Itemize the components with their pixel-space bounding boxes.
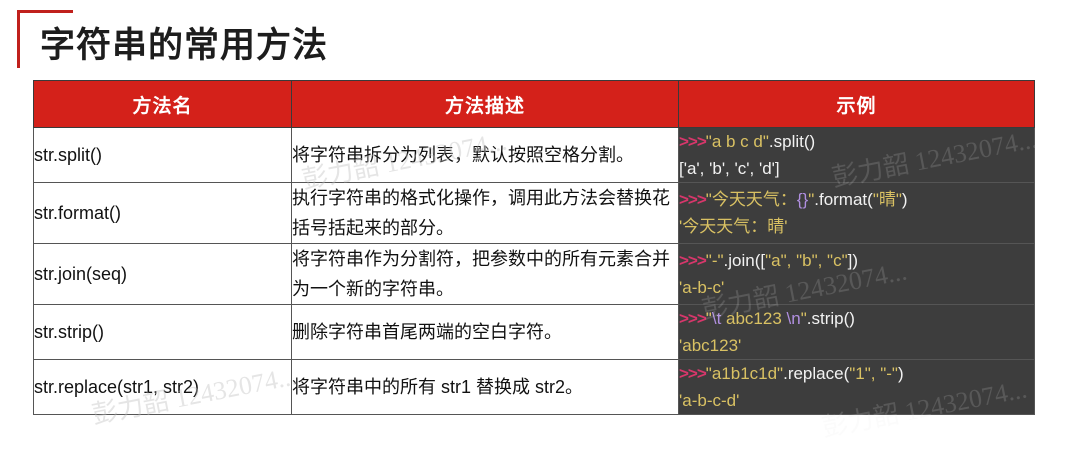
method-name-cell: str.format() — [34, 183, 292, 244]
string-body-token: abc123 — [721, 309, 786, 328]
table-body: str.split() 将字符串拆分为列表，默认按照空格分割。 >>>"a b … — [34, 128, 1035, 415]
code-input-line: >>>"-".join(["a", "b", "c"]) — [679, 247, 1034, 274]
call-token: .split() — [769, 132, 815, 151]
placeholder-token: {} — [797, 190, 808, 209]
method-name-cell: str.join(seq) — [34, 244, 292, 305]
method-example-cell: >>>"a b c d".split() ['a', 'b', 'c', 'd'… — [679, 128, 1035, 183]
prompt-token: >>> — [679, 132, 706, 151]
method-desc-cell: 将字符串拆分为列表，默认按照空格分割。 — [292, 128, 679, 183]
method-name-cell: str.replace(str1, str2) — [34, 360, 292, 415]
code-input-line: >>>"a1b1c1d".replace("1", "-") — [679, 360, 1034, 387]
code-output-line: ['a', 'b', 'c', 'd'] — [679, 155, 1034, 182]
code-input-line: >>>"今天天气：{}".format("晴") — [679, 186, 1034, 213]
method-desc-cell: 执行字符串的格式化操作，调用此方法会替换花括号括起来的部分。 — [292, 183, 679, 244]
prompt-token: >>> — [679, 251, 706, 270]
code-output-line: 'abc123' — [679, 332, 1034, 359]
table-header: 方法名 方法描述 示例 — [34, 81, 1035, 128]
table-row: str.split() 将字符串拆分为列表，默认按照空格分割。 >>>"a b … — [34, 128, 1035, 183]
table-row: str.join(seq) 将字符串作为分割符，把参数中的所有元素合并为一个新的… — [34, 244, 1035, 305]
method-desc-cell: 将字符串中的所有 str1 替换成 str2。 — [292, 360, 679, 415]
method-example-cell: >>>"-".join(["a", "b", "c"]) 'a-b-c' — [679, 244, 1035, 305]
table-header-row: 方法名 方法描述 示例 — [34, 81, 1035, 128]
table-row: str.strip() 删除字符串首尾两端的空白字符。 >>>"\t abc12… — [34, 305, 1035, 360]
escape-tab-token: \t — [712, 309, 721, 328]
method-example-cell: >>>"a1b1c1d".replace("1", "-") 'a-b-c-d' — [679, 360, 1035, 415]
output-token: 'a-b-c' — [679, 278, 724, 297]
code-output-line: 'a-b-c' — [679, 274, 1034, 301]
code-output-line: 'a-b-c-d' — [679, 387, 1034, 414]
string-token: "a b c d" — [706, 132, 769, 151]
output-token: 'abc123' — [679, 336, 741, 355]
method-name-cell: str.split() — [34, 128, 292, 183]
code-input-line: >>>"\t abc123 \n".strip() — [679, 305, 1034, 332]
method-example-cell: >>>"今天天气：{}".format("晴") '今天天气：晴' — [679, 183, 1035, 244]
table-row: str.format() 执行字符串的格式化操作，调用此方法会替换花括号括起来的… — [34, 183, 1035, 244]
string-token: "a1b1c1d" — [706, 364, 783, 383]
table-row: str.replace(str1, str2) 将字符串中的所有 str1 替换… — [34, 360, 1035, 415]
title-block: 字符串的常用方法 — [17, 10, 357, 72]
column-header-description: 方法描述 — [292, 81, 679, 128]
argument-token: "晴" — [873, 190, 902, 209]
page-title: 字符串的常用方法 — [40, 24, 328, 68]
string-methods-table: 方法名 方法描述 示例 str.split() 将字符串拆分为列表，默认按照空格… — [33, 80, 1035, 415]
escape-newline-token: \n — [787, 309, 801, 328]
output-token: '今天天气：晴' — [679, 217, 788, 236]
column-header-method-name: 方法名 — [34, 81, 292, 128]
string-token: "今天天气： — [706, 190, 797, 209]
output-token: 'a-b-c-d' — [679, 391, 739, 410]
call-token: .replace( — [783, 364, 849, 383]
string-token: "-" — [706, 251, 724, 270]
column-header-example: 示例 — [679, 81, 1035, 128]
method-example-cell: >>>"\t abc123 \n".strip() 'abc123' — [679, 305, 1035, 360]
code-input-line: >>>"a b c d".split() — [679, 128, 1034, 155]
method-desc-cell: 删除字符串首尾两端的空白字符。 — [292, 305, 679, 360]
call-token: .strip() — [807, 309, 855, 328]
argument-token: "1", "-" — [849, 364, 898, 383]
call-tail-token: ) — [902, 190, 908, 209]
prompt-token: >>> — [679, 190, 706, 209]
call-token: .format( — [814, 190, 873, 209]
prompt-token: >>> — [679, 309, 706, 328]
method-desc-cell: 将字符串作为分割符，把参数中的所有元素合并为一个新的字符串。 — [292, 244, 679, 305]
call-token: .join([ — [724, 251, 766, 270]
call-tail-token: ) — [898, 364, 904, 383]
call-tail-token: ]) — [848, 251, 858, 270]
prompt-token: >>> — [679, 364, 706, 383]
method-name-cell: str.strip() — [34, 305, 292, 360]
argument-token: "a", "b", "c" — [765, 251, 848, 270]
output-token: ['a', 'b', 'c', 'd'] — [679, 159, 780, 178]
code-output-line: '今天天气：晴' — [679, 213, 1034, 240]
